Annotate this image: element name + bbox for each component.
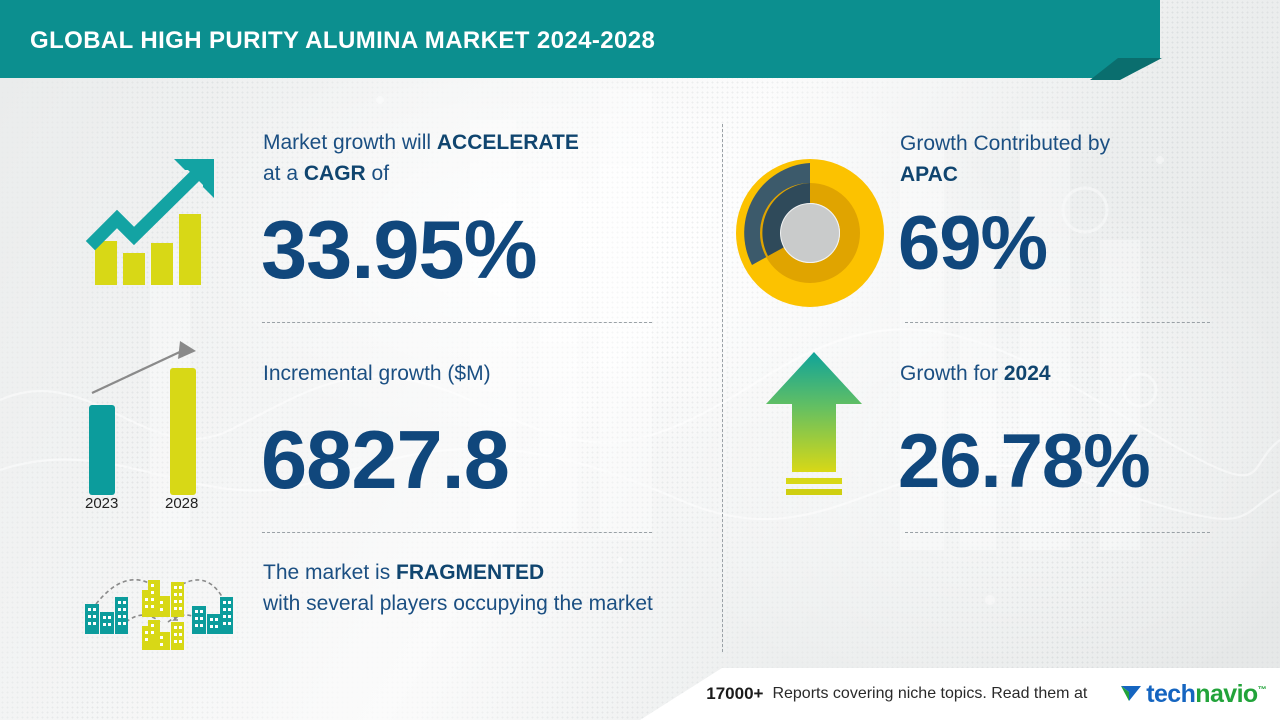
apac-value: 69%	[898, 206, 1047, 282]
apac-label: Growth Contributed by APAC	[900, 128, 1230, 190]
donut-chart-icon	[734, 157, 886, 309]
cagr-label-part1: Market growth will	[263, 131, 437, 154]
incremental-growth-label: Incremental growth ($M)	[263, 358, 663, 389]
fragmented-label-part1: The market is	[263, 561, 396, 584]
cagr-label-accelerate: ACCELERATE	[437, 131, 579, 154]
apac-label-part1: Growth Contributed by	[900, 132, 1110, 155]
separator-left-1	[262, 322, 652, 323]
technavio-logo[interactable]: technavio™	[1118, 680, 1266, 709]
page-title: GLOBAL HIGH PURITY ALUMINA MARKET 2024-2…	[30, 27, 655, 55]
separator-right-1	[905, 322, 1210, 323]
growth-chart-icon	[62, 140, 242, 300]
logo-text-navio: navio	[1195, 680, 1257, 708]
header-banner: GLOBAL HIGH PURITY ALUMINA MARKET 2024-2…	[0, 0, 1160, 78]
footer-tagline: Reports covering niche topics. Read them…	[772, 685, 1087, 703]
cagr-label-cagr: CAGR	[304, 162, 366, 185]
growth-2024-label-bold: 2024	[1004, 362, 1051, 385]
apac-label-bold: APAC	[900, 163, 958, 186]
cagr-label: Market growth will ACCELERATE at a CAGR …	[263, 127, 663, 189]
cagr-label-part2: at a	[263, 162, 304, 185]
bar-chart-icon	[62, 325, 242, 520]
column-divider	[722, 124, 723, 652]
bar-label-2023: 2023	[85, 495, 118, 512]
cagr-value: 33.95%	[261, 208, 537, 291]
fragmented-label-part2: with several players occupying the marke…	[263, 592, 653, 615]
footer-content: 17000+ Reports covering niche topics. Re…	[660, 668, 1280, 720]
separator-left-2	[262, 532, 652, 533]
growth-2024-value: 26.78%	[898, 424, 1150, 500]
incremental-growth-value: 6827.8	[261, 418, 509, 501]
technavio-wordmark: technavio™	[1146, 680, 1266, 709]
arrow-up-icon	[762, 348, 866, 508]
buildings-network-icon	[68, 552, 238, 652]
cagr-label-part3: of	[366, 162, 389, 185]
bar-label-2028: 2028	[165, 495, 198, 512]
footer-report-count: 17000+	[706, 684, 763, 704]
logo-text-tech: tech	[1146, 680, 1195, 708]
fragmented-label: The market is FRAGMENTED with several pl…	[263, 557, 683, 619]
technavio-mark-icon	[1118, 681, 1144, 707]
growth-2024-label: Growth for 2024	[900, 358, 1230, 389]
separator-right-2	[905, 532, 1210, 533]
growth-2024-label-part1: Growth for	[900, 362, 1004, 385]
logo-trademark: ™	[1258, 684, 1266, 694]
fragmented-label-bold: FRAGMENTED	[396, 561, 544, 584]
